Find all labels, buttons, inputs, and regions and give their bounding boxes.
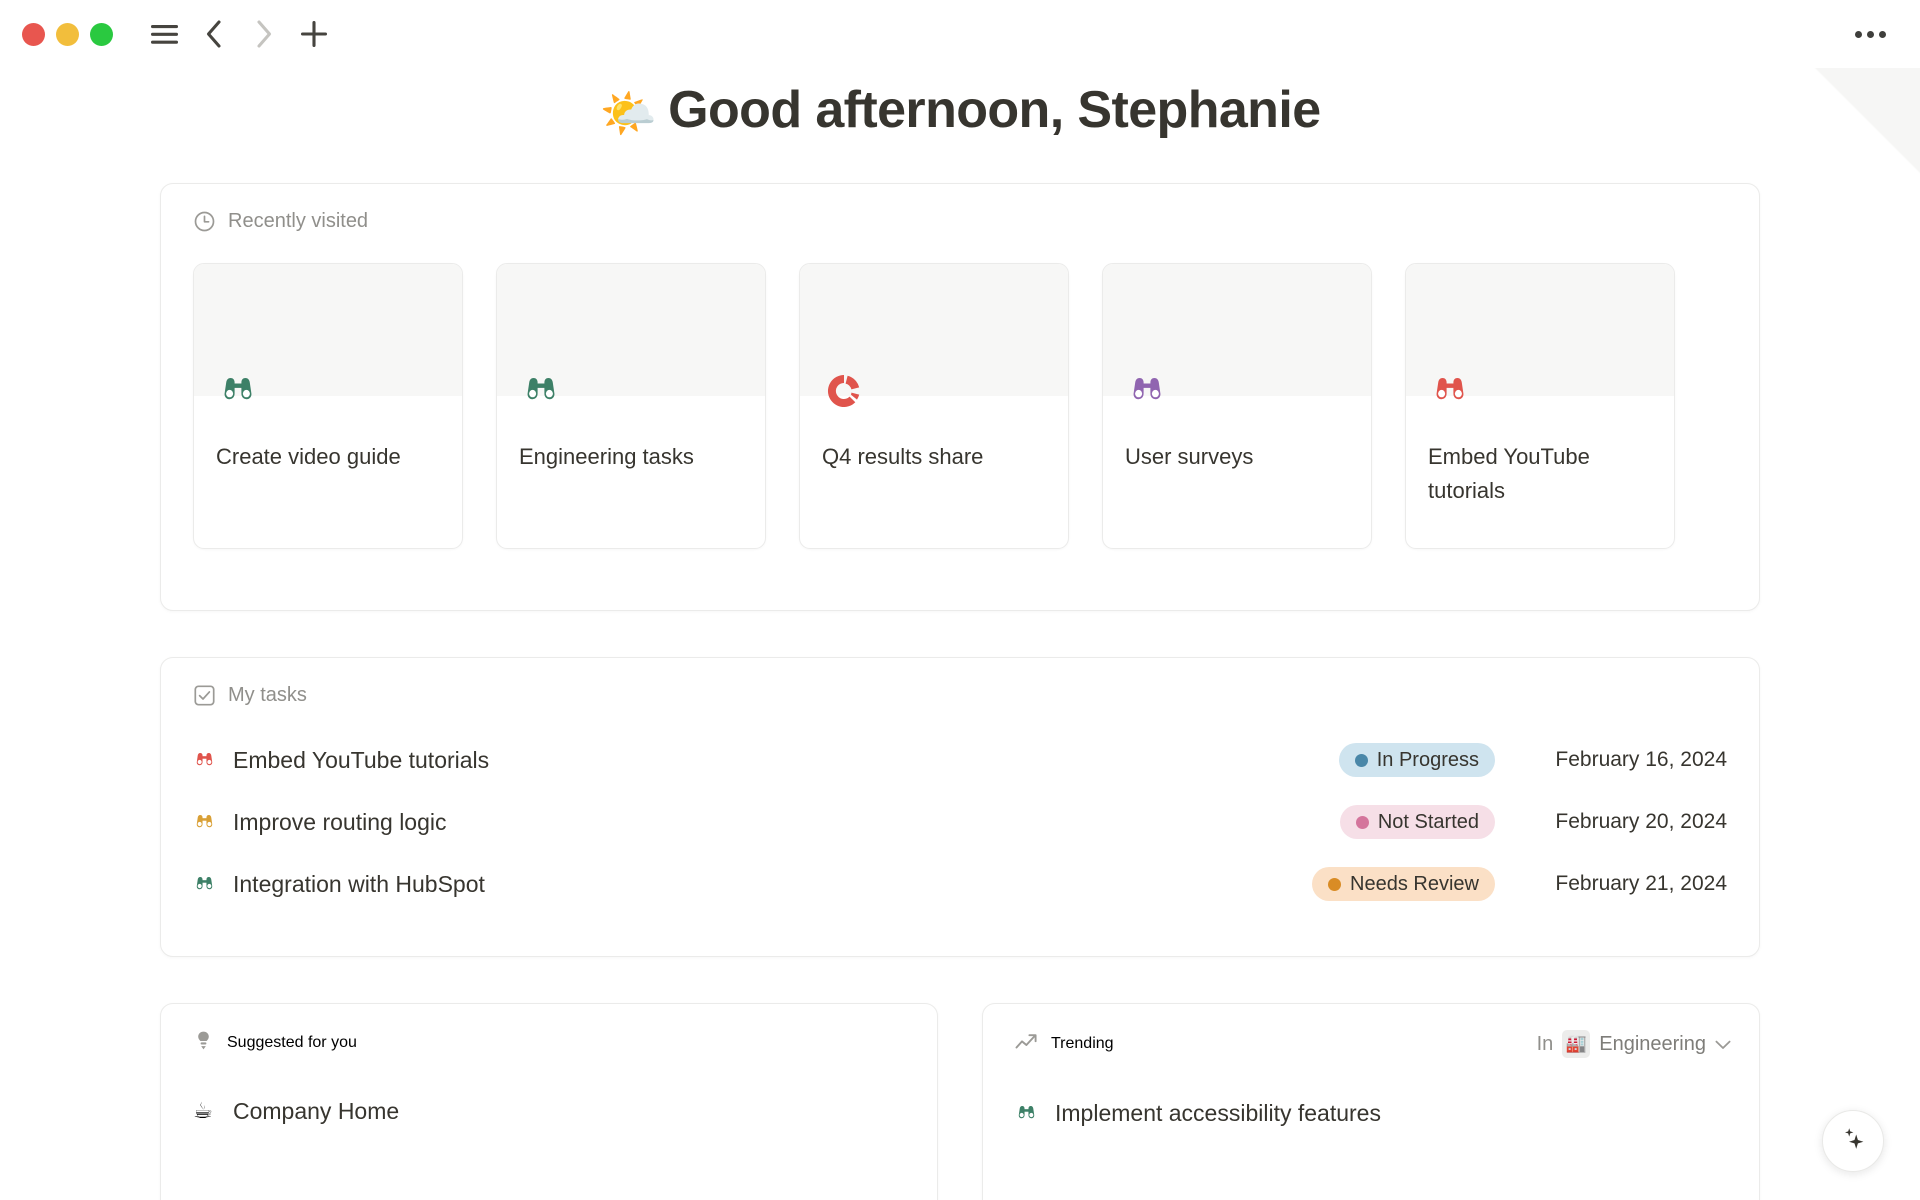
chevron-left-icon[interactable] xyxy=(192,12,236,56)
status-dot xyxy=(1328,878,1341,891)
trending-space-filter[interactable]: In 🏭 Engineering xyxy=(1537,1030,1731,1058)
task-row[interactable]: Integration with HubSpotNeeds ReviewFebr… xyxy=(193,853,1727,915)
binoculars-icon xyxy=(193,749,219,772)
task-title: Improve routing logic xyxy=(233,809,447,836)
my-tasks-label: My tasks xyxy=(228,684,307,707)
recently-visited-card[interactable]: Q4 results share xyxy=(799,263,1069,549)
suggested-header: Suggested for you xyxy=(161,1004,937,1056)
trending-list-item[interactable]: Implement accessibility features xyxy=(1015,1084,1727,1142)
task-title: Integration with HubSpot xyxy=(233,871,485,898)
recently-visited-label: Recently visited xyxy=(228,210,368,233)
my-tasks-header: My tasks xyxy=(161,658,1759,707)
my-tasks-panel: My tasks Embed YouTube tutorialsIn Progr… xyxy=(160,657,1760,957)
status-label: In Progress xyxy=(1377,749,1479,772)
plus-icon[interactable] xyxy=(292,12,336,56)
binoculars-icon xyxy=(1015,1102,1041,1125)
suggested-list: ☕Company Home xyxy=(161,1056,937,1140)
binoculars-icon xyxy=(216,369,260,413)
ai-sparkles-icon xyxy=(1838,1124,1868,1159)
sections-container: Recently visited Create video guideEngin… xyxy=(160,183,1760,1200)
trending-list: Implement accessibility features xyxy=(983,1058,1759,1142)
chevron-down-icon xyxy=(1715,1033,1731,1056)
suggested-for-you-panel: Suggested for you ☕Company Home xyxy=(160,1003,938,1200)
task-title: Embed YouTube tutorials xyxy=(233,747,489,774)
trending-up-icon xyxy=(1015,1033,1038,1056)
filter-prefix-label: In xyxy=(1537,1033,1554,1056)
recently-visited-panel: Recently visited Create video guideEngin… xyxy=(160,183,1760,611)
recently-visited-header: Recently visited xyxy=(161,184,1759,233)
recently-visited-card[interactable]: User surveys xyxy=(1102,263,1372,549)
recently-visited-card[interactable]: Engineering tasks xyxy=(496,263,766,549)
ai-assistant-button[interactable] xyxy=(1822,1110,1884,1172)
suggested-label: Suggested for you xyxy=(227,1034,357,1052)
coffee-cup-icon: ☕ xyxy=(193,1099,219,1124)
binoculars-icon xyxy=(519,369,563,413)
page-title: 🌤️Good afternoon, Stephanie xyxy=(0,68,1920,141)
task-due-date: February 16, 2024 xyxy=(1495,748,1727,772)
ellipsis-icon[interactable] xyxy=(1848,12,1892,56)
page-content: 🌤️Good afternoon, Stephanie Recently vis… xyxy=(0,68,1920,1200)
trending-header: Trending In 🏭 Engineering xyxy=(983,1004,1759,1058)
suggested-list-item[interactable]: ☕Company Home xyxy=(193,1082,905,1140)
task-due-date: February 21, 2024 xyxy=(1495,872,1727,896)
status-badge[interactable]: Needs Review xyxy=(1312,867,1495,901)
binoculars-icon xyxy=(1125,369,1169,413)
clock-icon xyxy=(193,211,215,233)
recently-visited-card[interactable]: Embed YouTube tutorials xyxy=(1405,263,1675,549)
recently-visited-card-row: Create video guideEngineering tasksQ4 re… xyxy=(161,233,1759,549)
status-label: Needs Review xyxy=(1350,873,1479,896)
bottom-panels-row: Suggested for you ☕Company Home xyxy=(160,1003,1760,1200)
suggested-item-label: Company Home xyxy=(233,1098,399,1125)
hamburger-menu-icon[interactable] xyxy=(142,12,186,56)
filter-space-name: Engineering xyxy=(1599,1033,1706,1056)
minimize-window-button[interactable] xyxy=(56,23,79,46)
close-window-button[interactable] xyxy=(22,23,45,46)
status-badge[interactable]: Not Started xyxy=(1340,805,1495,839)
task-due-date: February 20, 2024 xyxy=(1495,810,1727,834)
trending-item-label: Implement accessibility features xyxy=(1055,1100,1381,1127)
status-dot xyxy=(1356,816,1369,829)
binoculars-icon xyxy=(193,873,219,896)
titlebar-right-group xyxy=(1848,12,1892,56)
trending-label: Trending xyxy=(1051,1035,1114,1053)
donut-chart-icon xyxy=(822,369,866,413)
my-tasks-list: Embed YouTube tutorialsIn ProgressFebrua… xyxy=(161,707,1759,915)
title-bar xyxy=(0,0,1920,68)
sun-behind-cloud-icon: 🌤️ xyxy=(599,86,656,140)
task-row[interactable]: Embed YouTube tutorialsIn ProgressFebrua… xyxy=(193,729,1727,791)
trending-panel: Trending In 🏭 Engineering xyxy=(982,1003,1760,1200)
factory-icon: 🏭 xyxy=(1562,1030,1590,1058)
binoculars-icon xyxy=(193,811,219,834)
checkbox-icon xyxy=(193,685,215,707)
lightbulb-icon xyxy=(193,1030,214,1056)
status-badge[interactable]: In Progress xyxy=(1339,743,1495,777)
navigation-controls xyxy=(142,12,336,56)
app-window: 🌤️Good afternoon, Stephanie Recently vis… xyxy=(0,0,1920,1200)
task-row[interactable]: Improve routing logicNot StartedFebruary… xyxy=(193,791,1727,853)
recently-visited-card[interactable]: Create video guide xyxy=(193,263,463,549)
maximize-window-button[interactable] xyxy=(90,23,113,46)
binoculars-icon xyxy=(1428,369,1472,413)
greeting-text: Good afternoon, Stephanie xyxy=(668,81,1320,139)
chevron-right-icon[interactable] xyxy=(242,12,286,56)
traffic-light-group xyxy=(22,23,113,46)
status-label: Not Started xyxy=(1378,811,1479,834)
status-dot xyxy=(1355,754,1368,767)
